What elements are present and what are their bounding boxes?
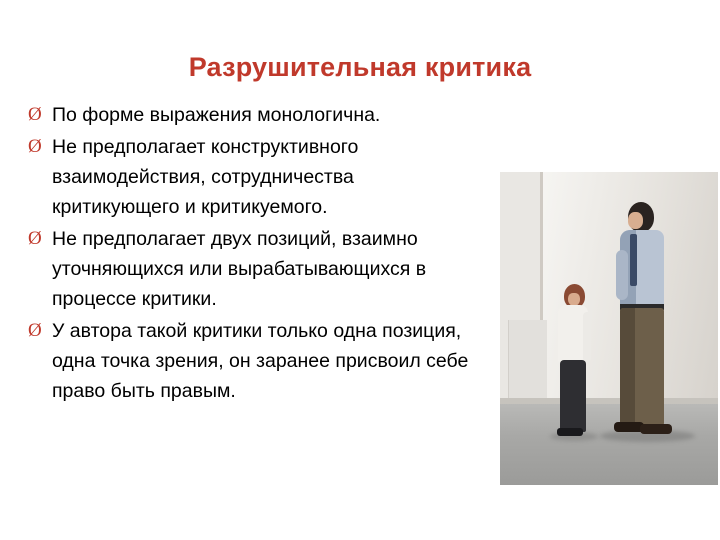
bullet-list: Ø По форме выражения монологична. Ø Не п…	[28, 100, 480, 408]
photo-man-arm	[616, 250, 628, 300]
page-title: Разрушительная критика	[0, 52, 720, 83]
list-item-text: У автора такой критики только одна позиц…	[52, 316, 480, 406]
photo-woman-arm	[583, 312, 591, 362]
photo-woman-legs	[560, 360, 586, 432]
slide: Разрушительная критика Ø По форме выраже…	[0, 0, 720, 540]
bullet-marker-icon: Ø	[28, 100, 42, 130]
photo-floor	[500, 404, 718, 485]
photo-woman-shoes	[557, 428, 583, 436]
photo-man-trousers-shadow	[620, 308, 635, 426]
photo-man-tie	[630, 234, 637, 286]
office-photo	[500, 172, 718, 485]
bullet-marker-icon: Ø	[28, 224, 42, 254]
bullet-marker-icon: Ø	[28, 132, 42, 162]
list-item: Ø Не предполагает двух позиций, взаимно …	[28, 224, 480, 314]
list-item: Ø У автора такой критики только одна поз…	[28, 316, 480, 406]
list-item: Ø Не предполагает конструктивного взаимо…	[28, 132, 480, 222]
list-item: Ø По форме выражения монологична.	[28, 100, 480, 130]
bullet-marker-icon: Ø	[28, 316, 42, 346]
photo-radiator	[508, 320, 547, 400]
list-item-text: По форме выражения монологична.	[52, 100, 480, 130]
list-item-text: Не предполагает двух позиций, взаимно ут…	[52, 224, 480, 314]
list-item-text: Не предполагает конструктивного взаимоде…	[52, 132, 480, 222]
photo-man-face	[628, 212, 643, 229]
photo-man-shoe-right	[640, 424, 672, 434]
